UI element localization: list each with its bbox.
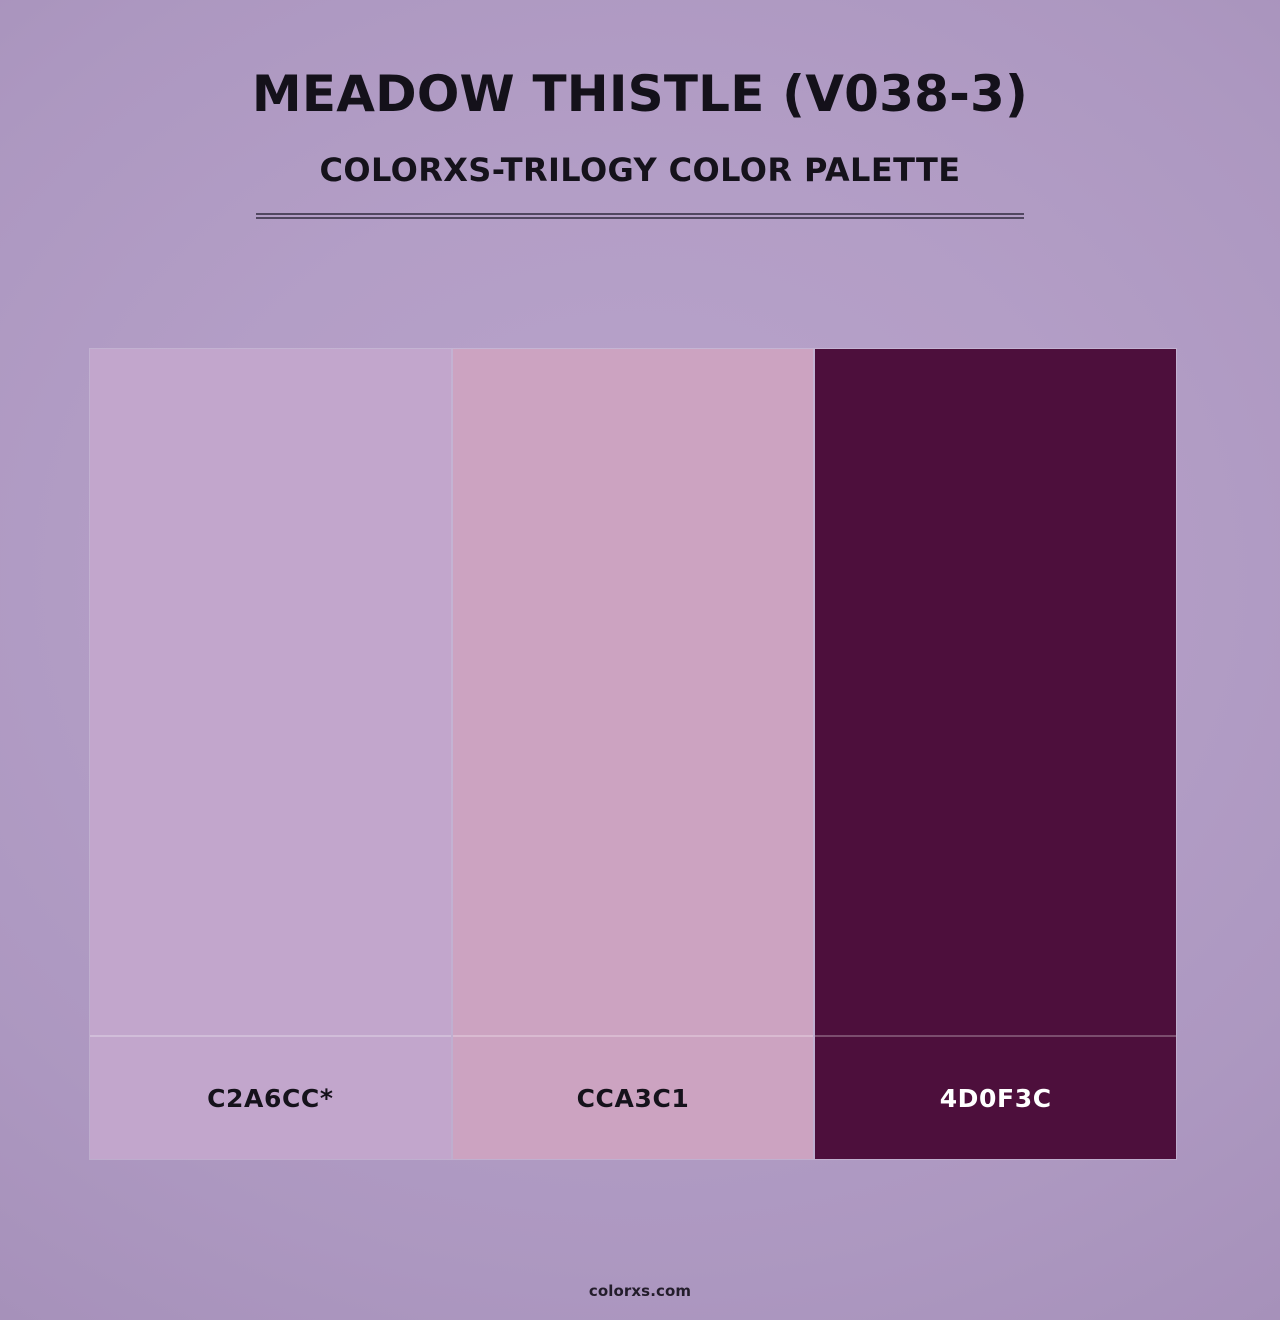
page-header: MEADOW THISTLE (V038-3) COLORXS-TRILOGY … [0,0,1280,219]
swatch-label-area: CCA3C1 [453,1035,814,1159]
header-divider [256,213,1024,219]
swatch-label-area: 4D0F3C [815,1035,1176,1159]
page-title: MEADOW THISTLE (V038-3) [0,66,1280,124]
swatch-label-area: C2A6CC* [90,1035,451,1159]
swatch-hex-label: C2A6CC* [207,1084,333,1113]
swatch-hex-label: CCA3C1 [577,1084,690,1113]
swatch-hex-label: 4D0F3C [940,1084,1052,1113]
color-swatch[interactable] [453,349,814,1035]
color-palette: C2A6CC*CCA3C14D0F3C [90,349,1176,1159]
swatch-column[interactable]: 4D0F3C [813,349,1176,1159]
page-subtitle: COLORXS-TRILOGY COLOR PALETTE [0,151,1280,189]
palette-page: MEADOW THISTLE (V038-3) COLORXS-TRILOGY … [0,0,1280,1320]
swatch-column[interactable]: C2A6CC* [90,349,451,1159]
color-swatch[interactable] [815,349,1176,1035]
footer-site-link[interactable]: colorxs.com [589,1282,691,1300]
swatch-column[interactable]: CCA3C1 [451,349,814,1159]
color-swatch[interactable] [90,349,451,1035]
page-footer: colorxs.com [0,1262,1280,1320]
